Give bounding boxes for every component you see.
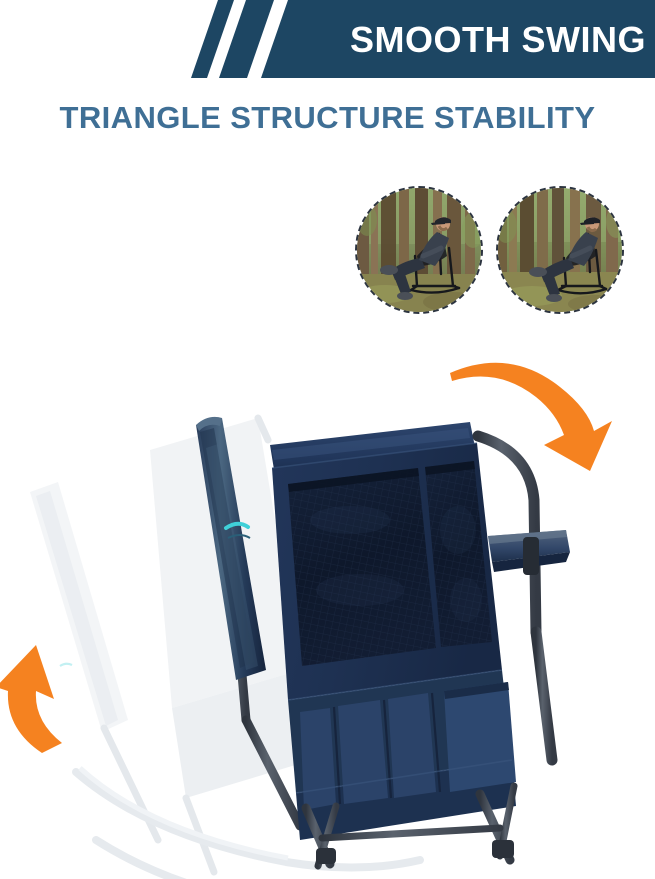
- side-pocket: [444, 682, 516, 792]
- rocking-motion-arrow-backward: [0, 625, 134, 755]
- mesh-pocket-left: [288, 468, 436, 666]
- arrow-backward-shape: [0, 645, 62, 753]
- header-banner: SMOOTH SWING: [0, 0, 655, 80]
- subtitle: TRIANGLE STRUCTURE STABILITY: [0, 96, 655, 138]
- arrow-forward-shape: [450, 363, 612, 471]
- armrest-clamp: [523, 537, 539, 575]
- leg-hinge-right: [492, 840, 514, 858]
- leg-hinge-left: [316, 848, 336, 864]
- navy-folding-rocking-camp-chair: [0, 200, 655, 879]
- infographic-canvas: SMOOTH SWING TRIANGLE STRUCTURE STABILIT…: [0, 0, 655, 879]
- lower-sleeve-pockets: [300, 693, 440, 810]
- rocking-motion-arrow-forward: [440, 335, 640, 475]
- armrest: [488, 530, 570, 575]
- banner-title: SMOOTH SWING: [294, 16, 646, 64]
